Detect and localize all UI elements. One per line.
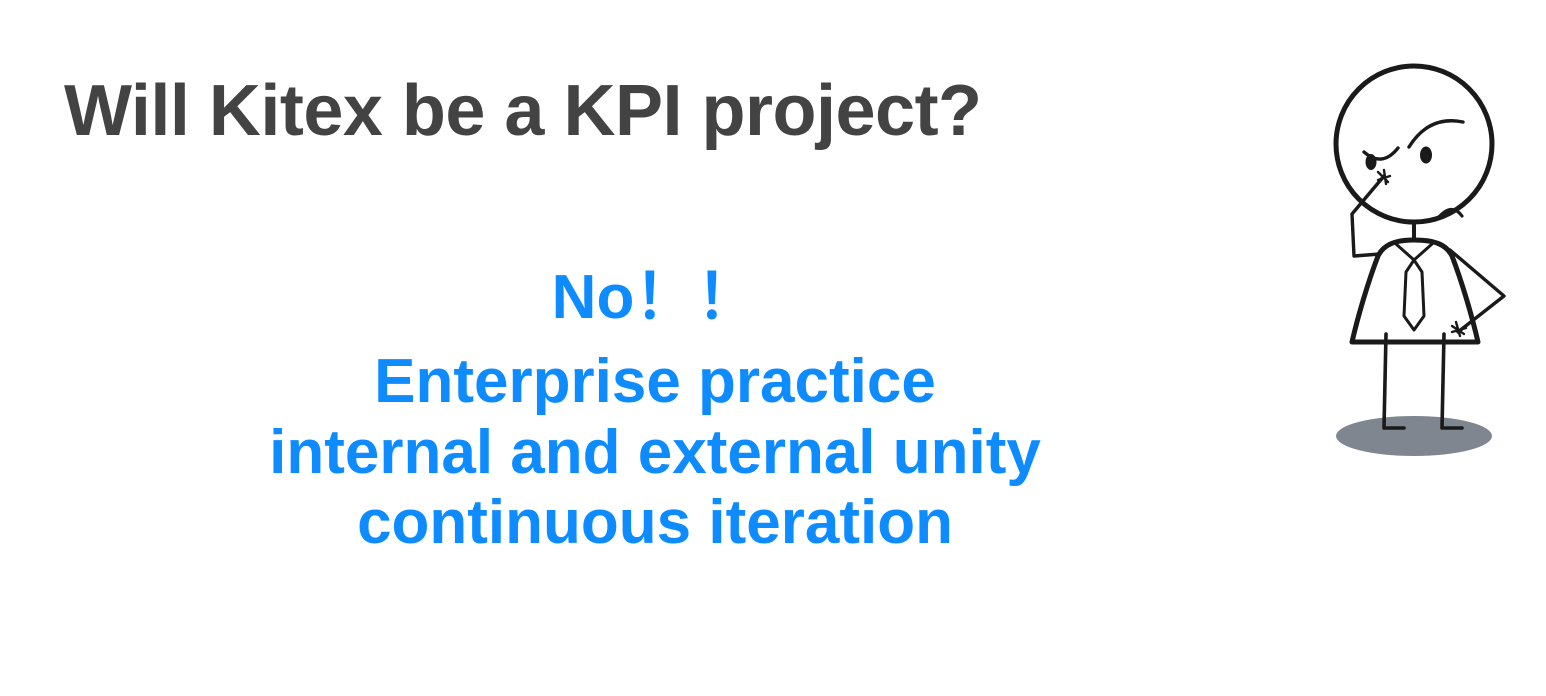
answer-line-no: No！！	[0, 266, 1310, 330]
slide-canvas: Will Kitex be a KPI project? No！！ Enterp…	[0, 0, 1546, 696]
skeptical-thinking-stick-figure-icon	[1292, 44, 1532, 464]
answer-line-internal-external-unity: internal and external unity	[0, 421, 1310, 485]
answer-line-enterprise-practice: Enterprise practice	[0, 350, 1310, 414]
page-title: Will Kitex be a KPI project?	[64, 74, 982, 150]
answer-block: No！！ Enterprise practice internal and ex…	[0, 266, 1310, 556]
answer-line-continuous-iteration: continuous iteration	[0, 491, 1310, 555]
